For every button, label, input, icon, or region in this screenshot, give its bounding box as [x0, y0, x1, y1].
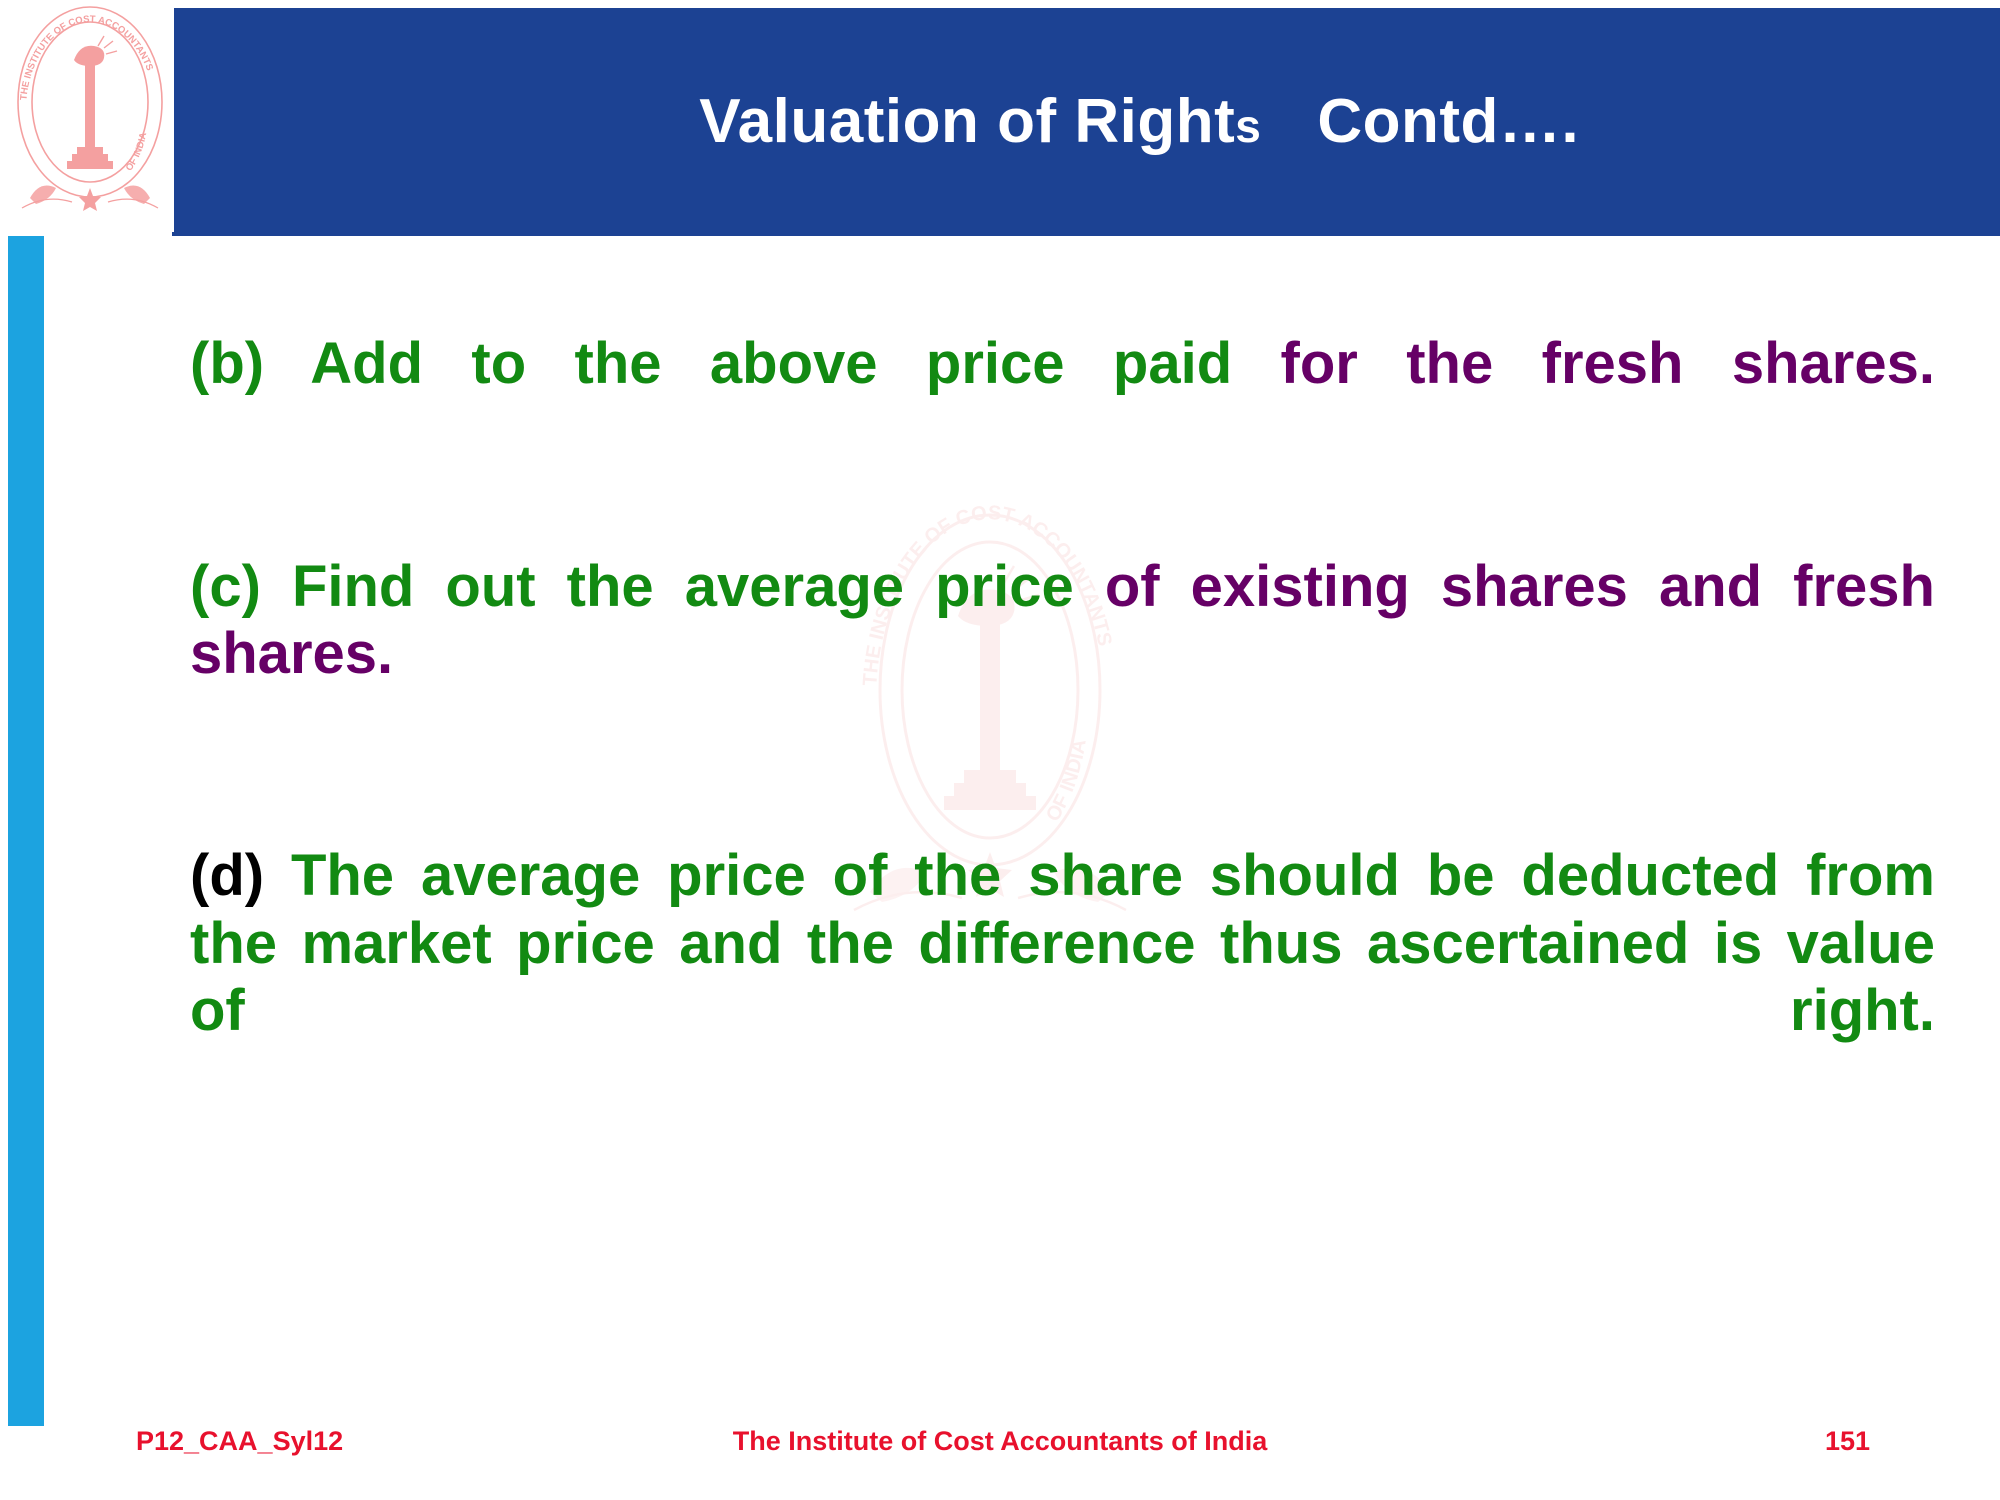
- paragraph-c: (c) Find out the average price of existi…: [190, 553, 1935, 755]
- paragraph-b-run-purple: for the fresh shares.: [1281, 331, 1935, 396]
- left-accent-stripe: [8, 236, 44, 1426]
- page-title: Valuation of RightsContd….: [593, 29, 1579, 215]
- institute-logo: THE INSTITUTE OF COST ACCOUNTANTS OF IND…: [6, 2, 174, 232]
- footer-page-number: 151: [1825, 1426, 1870, 1457]
- page-title-contd: Contd….: [1317, 87, 1579, 156]
- page-title-main: Valuation of Right: [699, 87, 1235, 156]
- paragraph-c-run-green: (c) Find out the average price: [190, 554, 1105, 619]
- slide-body: (b) Add to the above price paid for the …: [190, 330, 1935, 1111]
- paragraph-b: (b) Add to the above price paid for the …: [190, 330, 1935, 465]
- slide-footer: P12_CAA_Syl12 The Institute of Cost Acco…: [0, 1426, 2000, 1466]
- slide: Valuation of RightsContd….: [0, 0, 2000, 1500]
- page-title-suffix: s: [1235, 100, 1261, 152]
- paragraph-d-run-green: The average price of the share should be…: [190, 843, 1935, 1043]
- slide-header-bar: Valuation of RightsContd….: [172, 8, 2000, 236]
- svg-text:OF INDIA: OF INDIA: [124, 131, 150, 173]
- paragraph-d-run-black: (d): [190, 843, 291, 908]
- footer-institute-name: The Institute of Cost Accountants of Ind…: [0, 1426, 2000, 1457]
- paragraph-b-run-green: (b) Add to the above price paid: [190, 331, 1281, 396]
- paragraph-d: (d) The average price of the share shoul…: [190, 842, 1935, 1111]
